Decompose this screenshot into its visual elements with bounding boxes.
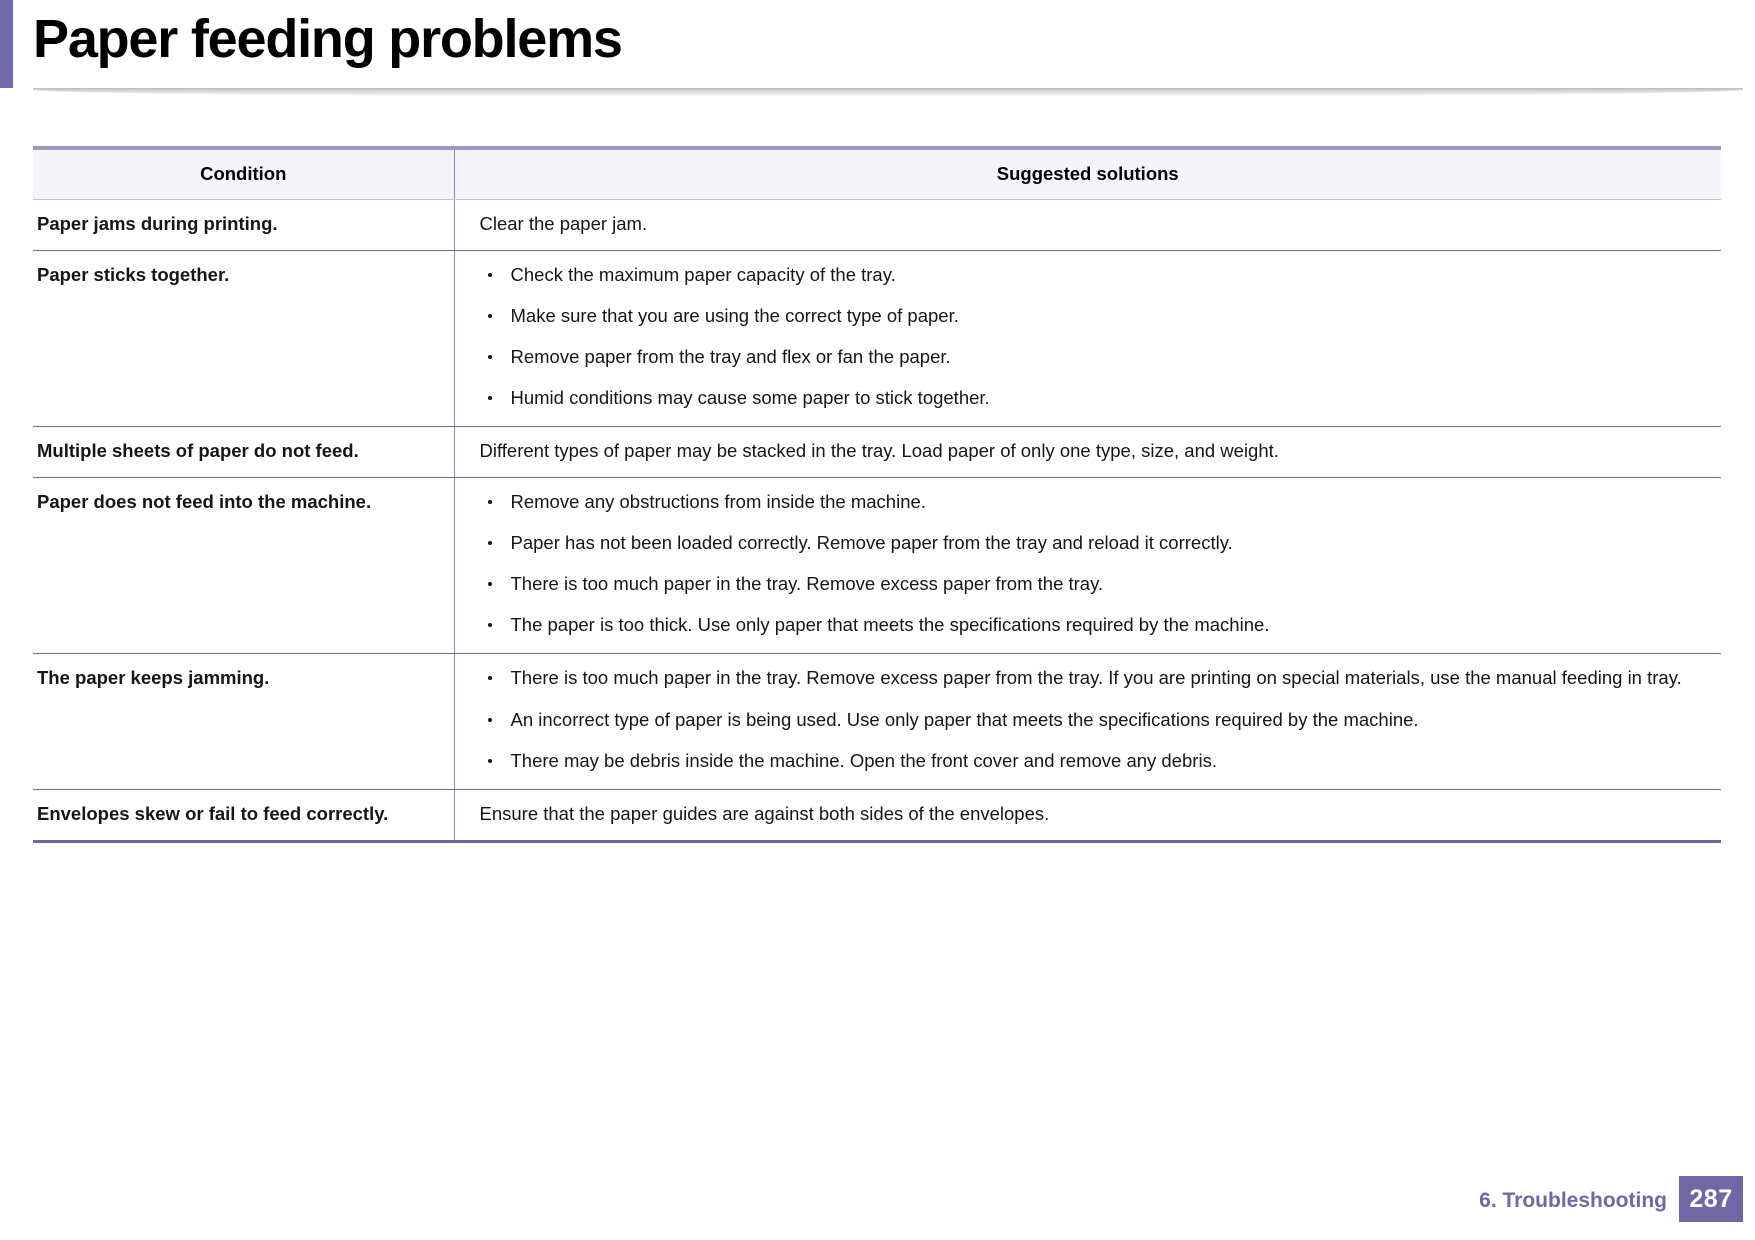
cell-condition: Multiple sheets of paper do not feed. (33, 427, 454, 478)
table-row: Multiple sheets of paper do not feed. Di… (33, 427, 1721, 478)
table-header-row: Condition Suggested solutions (33, 148, 1721, 200)
table-row: Paper does not feed into the machine. Re… (33, 478, 1721, 654)
cell-solution: Clear the paper jam. (454, 200, 1721, 251)
cell-solution: Remove any obstructions from inside the … (454, 478, 1721, 654)
solution-text: Clear the paper jam. (480, 212, 1710, 236)
list-item: There may be debris inside the machine. … (480, 749, 1710, 773)
list-item: Remove any obstructions from inside the … (480, 490, 1710, 514)
list-item: An incorrect type of paper is being used… (480, 708, 1710, 732)
list-item: The paper is too thick. Use only paper t… (480, 613, 1710, 637)
table-row: Paper jams during printing. Clear the pa… (33, 200, 1721, 251)
table-body: Paper jams during printing. Clear the pa… (33, 200, 1721, 842)
cell-solution: Ensure that the paper guides are against… (454, 789, 1721, 841)
solution-bullet-list: Remove any obstructions from inside the … (480, 490, 1710, 637)
cell-condition: Paper jams during printing. (33, 200, 454, 251)
header-rule-stub (0, 88, 33, 93)
solution-text: Different types of paper may be stacked … (480, 439, 1710, 463)
page-footer: 6. Troubleshooting 287 (0, 1176, 1755, 1222)
table-row: Envelopes skew or fail to feed correctly… (33, 789, 1721, 841)
table-head: Condition Suggested solutions (33, 148, 1721, 200)
list-item: Humid conditions may cause some paper to… (480, 386, 1710, 410)
cell-solution: Check the maximum paper capacity of the … (454, 251, 1721, 427)
table-row: Paper sticks together. Check the maximum… (33, 251, 1721, 427)
paper-feeding-problems-table: Condition Suggested solutions Paper jams… (33, 146, 1721, 843)
list-item: Make sure that you are using the correct… (480, 304, 1710, 328)
problem-table-container: Condition Suggested solutions Paper jams… (33, 146, 1721, 843)
solution-bullet-list: There is too much paper in the tray. Rem… (480, 666, 1710, 772)
cell-condition: Paper does not feed into the machine. (33, 478, 454, 654)
cell-solution: There is too much paper in the tray. Rem… (454, 654, 1721, 789)
column-header-condition: Condition (33, 148, 454, 200)
list-item: Check the maximum paper capacity of the … (480, 263, 1710, 287)
table-row: The paper keeps jamming. There is too mu… (33, 654, 1721, 789)
column-header-suggested-solutions: Suggested solutions (454, 148, 1721, 200)
list-item: There is too much paper in the tray. Rem… (480, 572, 1710, 596)
list-item: There is too much paper in the tray. Rem… (480, 666, 1710, 690)
header-divider-rule (33, 88, 1743, 97)
cell-condition: Paper sticks together. (33, 251, 454, 427)
footer-chapter-label: 6. Troubleshooting (1479, 1189, 1667, 1213)
cell-condition: The paper keeps jamming. (33, 654, 454, 789)
solution-bullet-list: Check the maximum paper capacity of the … (480, 263, 1710, 410)
footer-page-number-badge: 287 (1679, 1176, 1743, 1222)
solution-text: Ensure that the paper guides are against… (480, 802, 1710, 826)
page-header: Paper feeding problems (0, 0, 1755, 108)
cell-condition: Envelopes skew or fail to feed correctly… (33, 789, 454, 841)
cell-solution: Different types of paper may be stacked … (454, 427, 1721, 478)
list-item: Remove paper from the tray and flex or f… (480, 345, 1710, 369)
list-item: Paper has not been loaded correctly. Rem… (480, 531, 1710, 555)
page-title: Paper feeding problems (33, 2, 622, 76)
header-accent-bar (0, 0, 13, 93)
